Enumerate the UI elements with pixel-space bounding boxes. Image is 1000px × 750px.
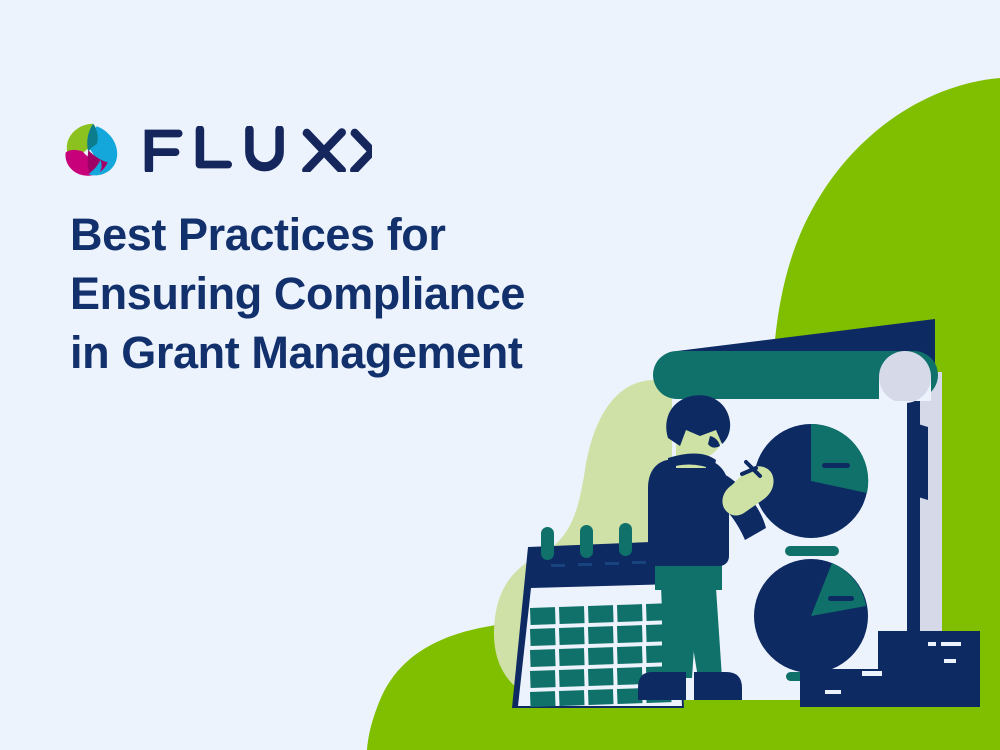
- desk-dash-5: [825, 690, 841, 694]
- pie-top-slice-label-dash: [822, 463, 850, 468]
- desk-dash-1: [928, 642, 936, 646]
- pie-chart-bottom: [754, 559, 868, 673]
- roller-end-cap: [879, 351, 931, 401]
- brand-lockup: FLUXX: [62, 118, 372, 180]
- person-shoe-front: [638, 672, 686, 700]
- pie-bottom-slice-label-dash: [828, 596, 854, 601]
- headline-line-1: Best Practices for: [70, 206, 650, 265]
- fluxx-wordmark: FLUXX: [140, 126, 372, 172]
- headline-line-3: in Grant Management: [70, 324, 650, 383]
- text-line-divider: [785, 546, 839, 556]
- fluxx-pinwheel-logo-icon: [62, 118, 122, 180]
- page-title: Best Practices for Ensuring Compliance i…: [70, 206, 650, 383]
- desk-block-lower: [800, 669, 980, 707]
- person-shoe-back: [694, 672, 742, 700]
- desk-dash-2: [941, 642, 961, 646]
- headline-line-2: Ensuring Compliance: [70, 265, 650, 324]
- desk-dash-4: [862, 671, 882, 676]
- poster-canvas: FLUXX Best Practices for Ensuring Compli…: [0, 0, 1000, 750]
- desk-dash-3: [944, 659, 956, 663]
